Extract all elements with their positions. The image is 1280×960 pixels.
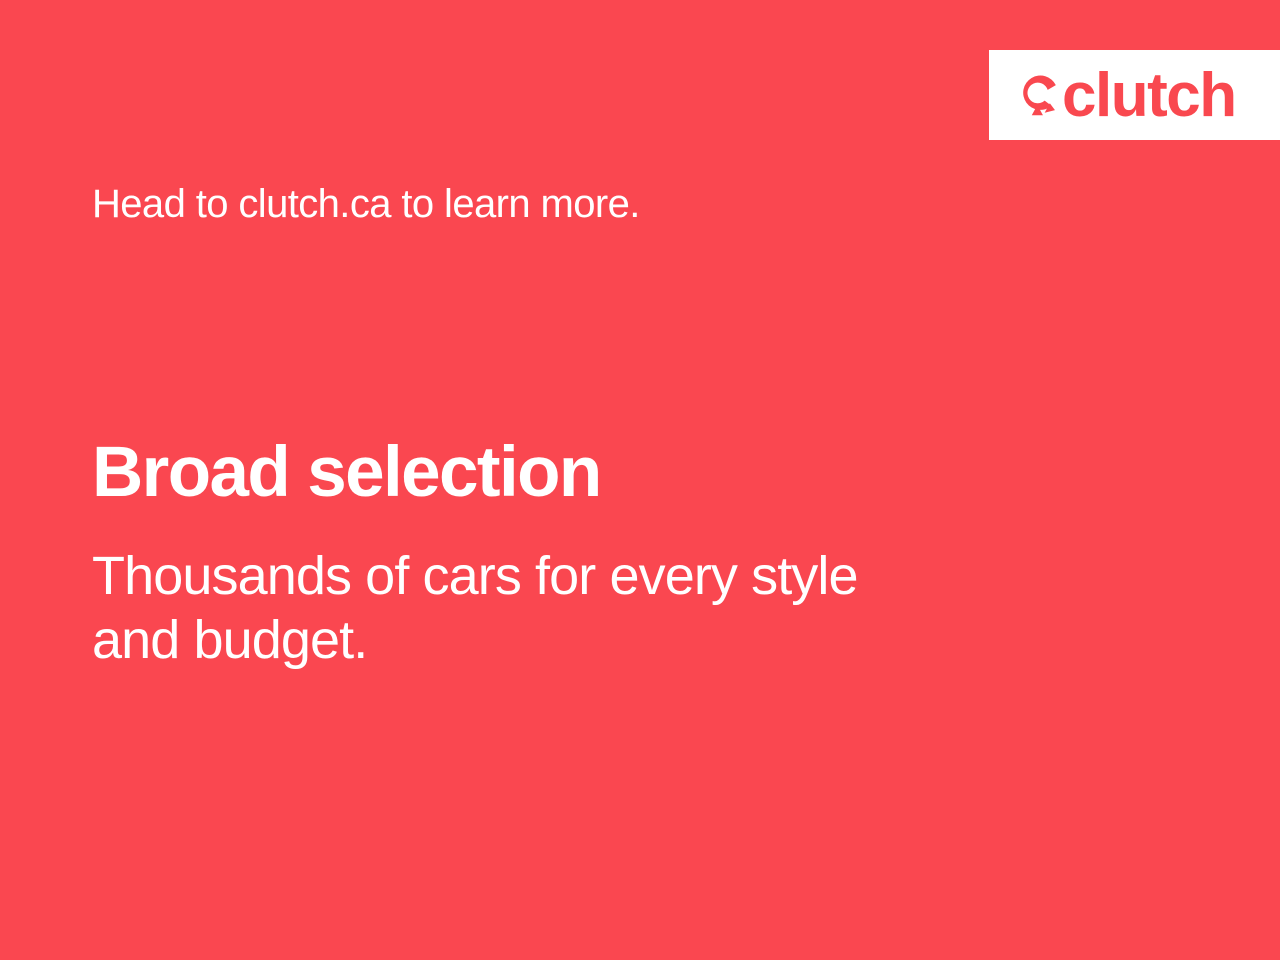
brand-logo-plate: clutch bbox=[989, 50, 1280, 140]
eyebrow-text: Head to clutch.ca to learn more. bbox=[92, 180, 640, 228]
clutch-logo-lockup: clutch bbox=[1018, 64, 1236, 126]
clutch-c-mark-icon bbox=[1018, 74, 1061, 117]
subheading: Thousands of cars for every style and bu… bbox=[92, 545, 1052, 672]
subheading-line: and budget. bbox=[92, 609, 1052, 673]
promo-slide: clutch Head to clutch.ca to learn more. … bbox=[0, 0, 1280, 960]
clutch-wordmark: clutch bbox=[1062, 65, 1236, 127]
subheading-line: Thousands of cars for every style bbox=[92, 545, 1052, 609]
page-title: Broad selection bbox=[92, 436, 601, 511]
